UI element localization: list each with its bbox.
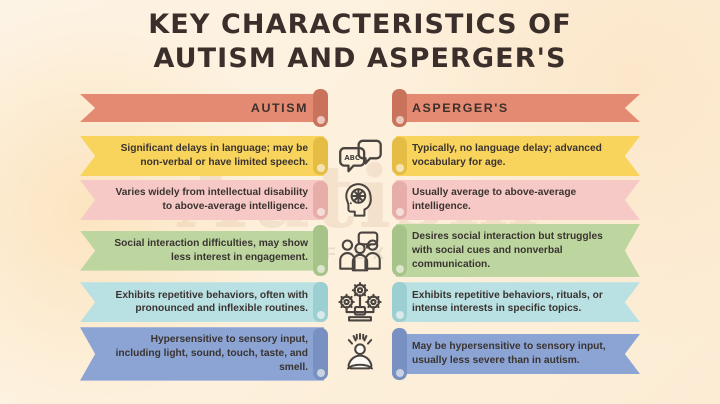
fold-dot	[396, 116, 404, 124]
header-label-autism: AUTISM	[251, 101, 308, 115]
ribbon-autism-social-interaction: Social interaction difficulties, may sho…	[80, 224, 324, 277]
row-icon-social-interaction	[324, 224, 396, 277]
ribbon-text-aspergers-language: Typically, no language delay; advanced v…	[412, 142, 614, 170]
comparison-row-intelligence: Varies widely from intellectual disabili…	[0, 180, 720, 220]
ribbon-aspergers-repetitive-behaviors: Exhibits repetitive behaviors, rituals, …	[396, 281, 640, 323]
comparison-row-social-interaction: Social interaction difficulties, may sho…	[0, 224, 720, 277]
ribbon-autism-intelligence: Varies widely from intellectual disabili…	[80, 180, 324, 220]
row-icon-language: ABC	[324, 136, 396, 176]
head-brain-icon	[340, 180, 380, 220]
column-headers-row: AUTISM ASPERGER'S	[0, 88, 720, 128]
fold-dot	[396, 208, 404, 216]
ribbon-text-aspergers-social-interaction: Desires social interaction but struggles…	[412, 230, 614, 271]
ribbon-aspergers-social-interaction: Desires social interaction but struggles…	[396, 224, 640, 277]
gears-cluster-icon	[338, 281, 382, 323]
ribbon-aspergers-intelligence: Usually average to above-average intelli…	[396, 180, 640, 220]
ribbon-text-aspergers-intelligence: Usually average to above-average intelli…	[412, 186, 614, 214]
fold-dot	[396, 311, 404, 319]
fold-dot	[396, 164, 404, 172]
row-icon-repetitive-behaviors	[324, 281, 396, 323]
svg-text:ABC: ABC	[344, 154, 360, 162]
comparison-row-repetitive-behaviors: Exhibits repetitive behaviors, often wit…	[0, 281, 720, 323]
ribbon-text-aspergers-sensory-sensitivity: May be hypersensitive to sensory input, …	[412, 340, 614, 368]
fold-dot	[396, 369, 404, 377]
ribbon-text-autism-language: Significant delays in language; may be n…	[106, 142, 308, 170]
title-line-2: AUTISM AND ASPERGER'S	[0, 42, 720, 76]
row-icon-intelligence	[324, 180, 396, 220]
infographic-canvas: Autism CENTER OF EXCELLENCE KEY CHARACTE…	[0, 0, 720, 404]
row-icon-sensory-sensitivity	[324, 327, 396, 380]
header-banner-aspergers: ASPERGER'S	[396, 88, 640, 128]
ribbon-text-autism-social-interaction: Social interaction difficulties, may sho…	[106, 237, 308, 265]
ribbon-aspergers-sensory-sensitivity: May be hypersensitive to sensory input, …	[396, 327, 640, 380]
comparison-row-sensory-sensitivity: Hypersensitive to sensory input, includi…	[0, 327, 720, 380]
header-banner-autism: AUTISM	[80, 88, 324, 128]
ribbon-aspergers-language: Typically, no language delay; advanced v…	[396, 136, 640, 176]
ribbon-text-autism-repetitive-behaviors: Exhibits repetitive behaviors, often wit…	[106, 289, 308, 317]
group-people-icon	[338, 230, 382, 272]
header-icon-spacer	[324, 88, 396, 128]
header-label-aspergers: ASPERGER'S	[412, 101, 509, 115]
ribbon-autism-sensory-sensitivity: Hypersensitive to sensory input, includi…	[80, 327, 324, 380]
title-line-1: KEY CHARACTERISTICS OF	[0, 8, 720, 42]
speech-bubbles-abc-icon: ABC	[337, 136, 383, 176]
ribbon-autism-language: Significant delays in language; may be n…	[80, 136, 324, 176]
fold-dot	[396, 265, 404, 273]
page-title: KEY CHARACTERISTICS OF AUTISM AND ASPERG…	[0, 8, 720, 76]
ribbon-text-aspergers-repetitive-behaviors: Exhibits repetitive behaviors, rituals, …	[412, 289, 614, 317]
comparison-row-language: Significant delays in language; may be n…	[0, 136, 720, 176]
ribbon-autism-repetitive-behaviors: Exhibits repetitive behaviors, often wit…	[80, 281, 324, 323]
ribbon-text-autism-sensory-sensitivity: Hypersensitive to sensory input, includi…	[106, 333, 308, 374]
meditating-person-sensory-icon	[340, 333, 380, 375]
comparison-table: AUTISM ASPERGER'S Significant delays in …	[0, 88, 720, 385]
ribbon-text-autism-intelligence: Varies widely from intellectual disabili…	[106, 186, 308, 214]
